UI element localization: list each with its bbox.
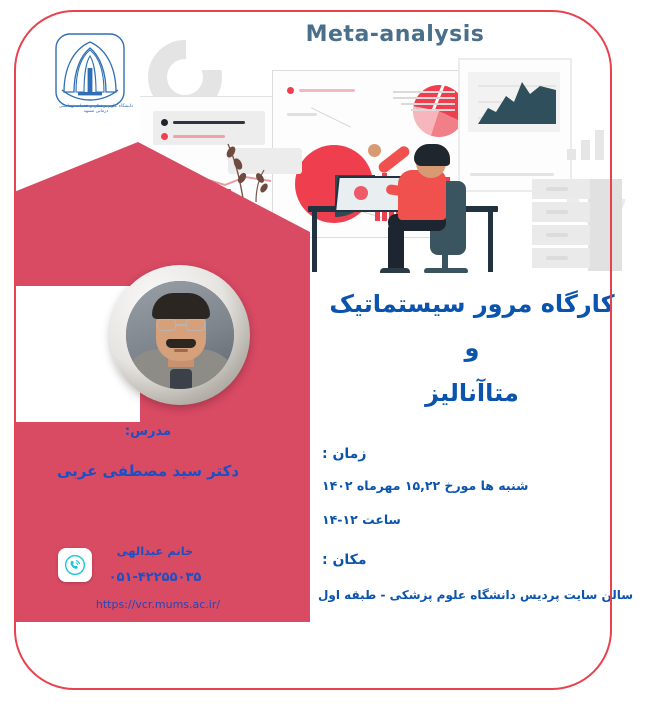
place-value: سالن سایت پردیس دانشگاه علوم پزشکی - طبق…: [318, 588, 634, 602]
glasses-icon: [156, 319, 206, 331]
laptop-screen-chart: [354, 186, 368, 200]
page-title: کارگاه مرور سیستماتیک و متاآنالیز: [322, 282, 622, 415]
person-foot: [380, 268, 410, 273]
instructor-name: دکتر سید مصطفی عربی: [0, 462, 296, 480]
title-line-2: متاآنالیز: [322, 371, 622, 415]
bullet-dot: [287, 87, 294, 94]
chair-base: [424, 268, 468, 273]
filing-cabinet-icon: [530, 179, 622, 271]
portrait-shirt: [170, 369, 192, 389]
header-rule-1: [299, 89, 355, 92]
time-value: شنبه ها مورخ ۱۵,۲۲ مهرماه ۱۴۰۲: [322, 478, 622, 493]
area-chart-icon: [468, 72, 560, 132]
donut-cut-decoration: [186, 36, 226, 70]
instructor-portrait: [126, 281, 234, 389]
contact-block: خانم عبدالهی ۰۵۱-۴۲۲۵۵۰۳۵ https://vcr.mu…: [50, 542, 280, 628]
mums-university-logo: دانشگاه علوم پزشکی و خدمات بهداشتی درمان…: [38, 28, 142, 118]
legend-dot-red: [161, 133, 168, 140]
gray-bars-decoration: [567, 126, 604, 160]
desk-leg-left: [312, 210, 317, 272]
illustration-heading: Meta-analysis: [270, 22, 520, 47]
cabinet-side: [588, 179, 622, 271]
title-line-1: کارگاه مرور سیستماتیک و: [322, 282, 622, 371]
person-hair: [414, 144, 450, 166]
text-lines-group: [385, 91, 455, 115]
header-rule-2: [287, 113, 317, 116]
portrait-mustache: [166, 339, 196, 348]
poster-root: Meta-analysis: [0, 0, 646, 718]
portrait-mouth: [174, 349, 188, 352]
leader-line-top: [311, 107, 351, 127]
portrait-brow-left: [158, 315, 174, 318]
illustration-panel-right: [458, 58, 572, 192]
instructor-label: مدرس:: [0, 424, 296, 439]
time-label: زمان :: [322, 446, 622, 462]
logo-caption: دانشگاه علوم پزشکی و خدمات بهداشتی درمان…: [56, 104, 136, 114]
time-hours: ساعت ۱۲-۱۴: [322, 512, 622, 527]
legend-dot-dark: [161, 119, 168, 126]
contact-phone: ۰۵۱-۴۲۲۵۵۰۳۵: [50, 570, 260, 585]
desk-leg-right: [488, 210, 493, 272]
avatar: [110, 265, 250, 405]
contact-person: خانم عبدالهی: [50, 544, 260, 558]
place-label: مکان :: [322, 552, 622, 568]
portrait-brow-right: [188, 315, 204, 318]
person-hand: [368, 144, 381, 157]
cabinet-drawers: [532, 179, 590, 271]
legend-line-1: [173, 121, 245, 124]
panel-right-rule: [470, 173, 554, 176]
contact-url[interactable]: https://vcr.mums.ac.ir/: [50, 598, 266, 611]
person-shin: [388, 223, 404, 273]
